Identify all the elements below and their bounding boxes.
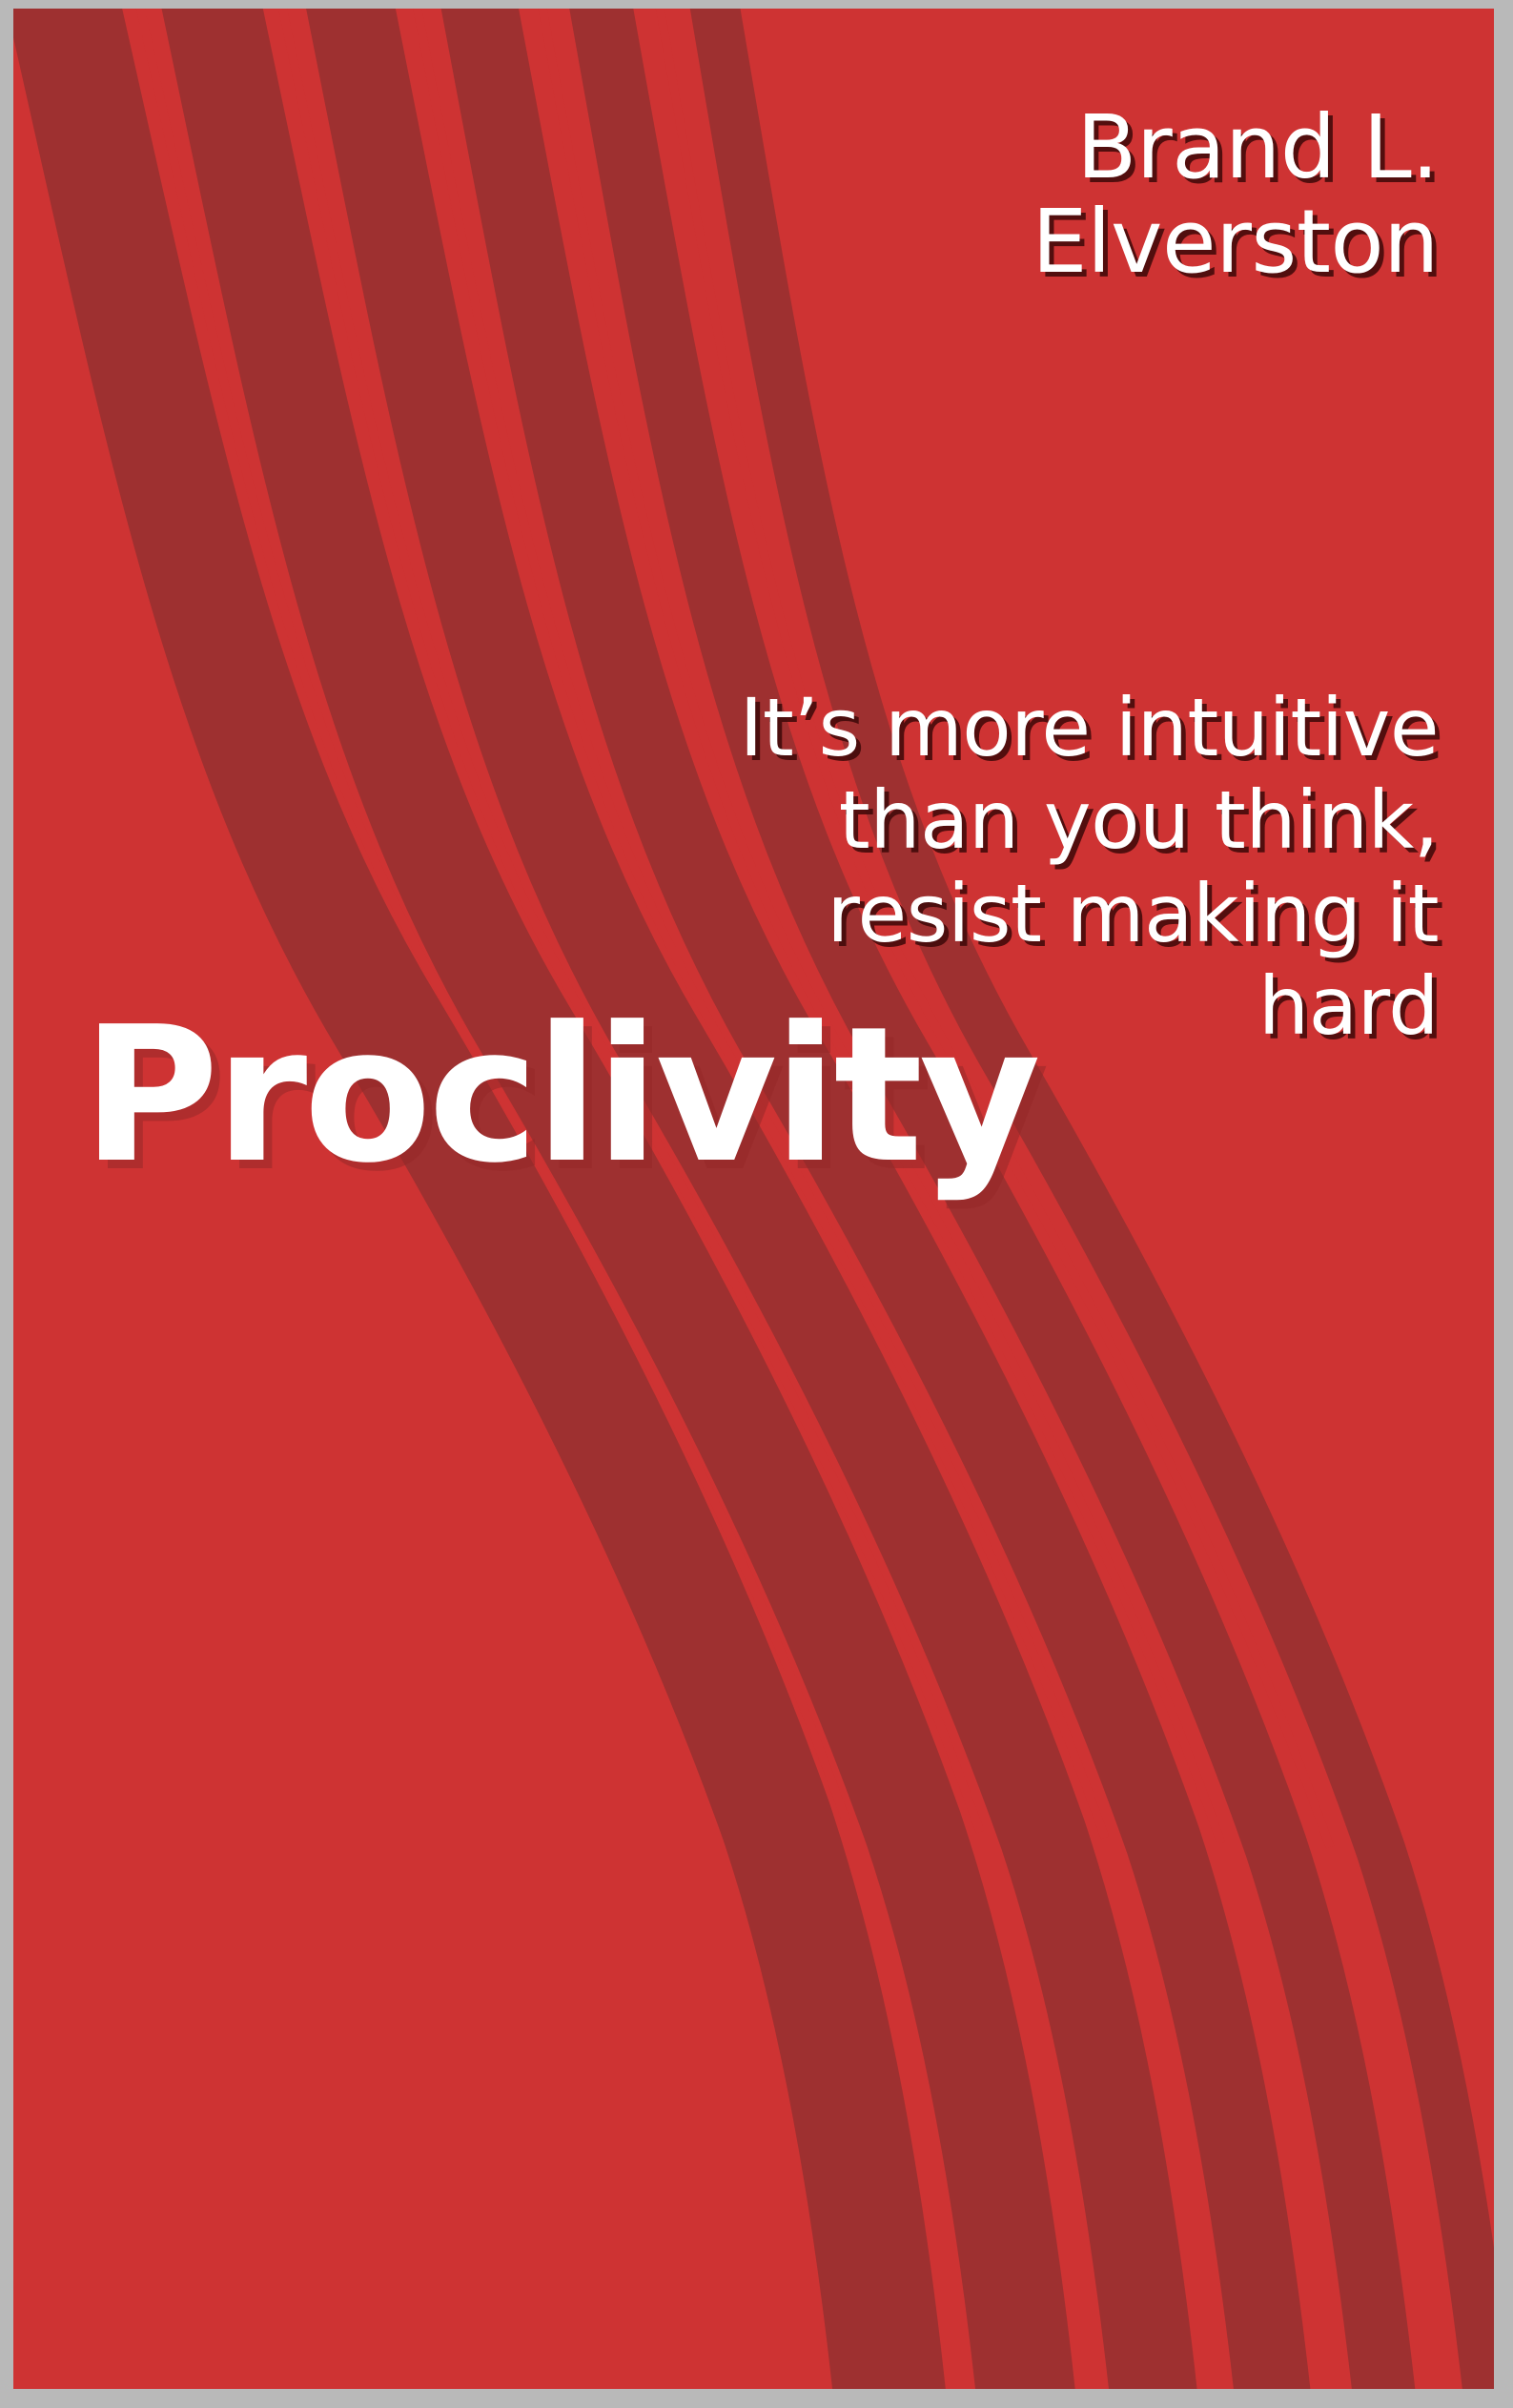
author-name: Brand L. Elverston (390, 100, 1439, 290)
book-cover: Brand L. Elverston It’s more intuitive t… (0, 0, 1513, 2408)
book-title: Proclivity (82, 998, 1436, 1195)
cover-canvas: Brand L. Elverston It’s more intuitive t… (13, 9, 1494, 2389)
cover-text-layer: Brand L. Elverston It’s more intuitive t… (13, 9, 1494, 2389)
